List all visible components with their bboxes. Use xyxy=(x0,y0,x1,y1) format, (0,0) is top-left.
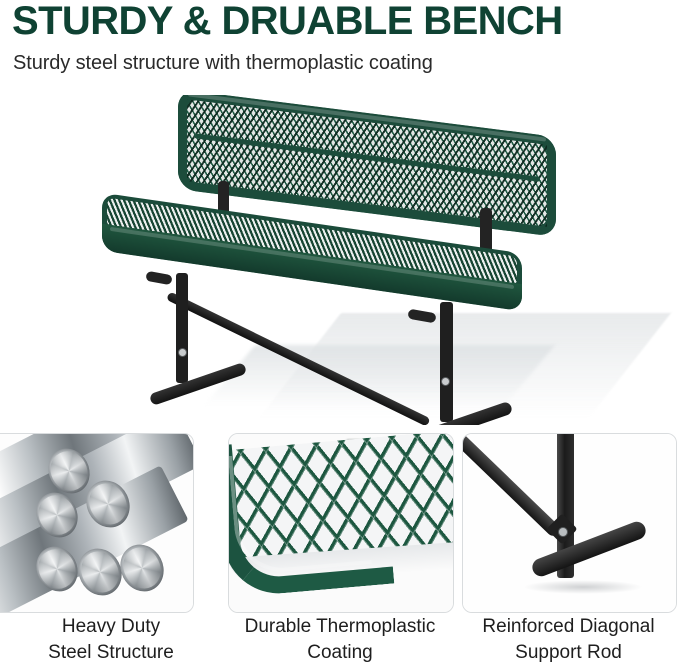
bench-leg-left xyxy=(176,273,188,383)
leg-shadow xyxy=(523,580,643,594)
support-rod-bolt-left xyxy=(178,348,187,357)
product-feature-banner: STURDY & DRUABLE BENCH Sturdy steel stru… xyxy=(0,0,679,670)
caption-line-2: Coating xyxy=(228,640,452,666)
caption-line-1: Reinforced Diagonal xyxy=(458,614,679,640)
feature-captions: Heavy Duty Steel Structure Durable Therm… xyxy=(0,614,679,670)
caption-line-1: Durable Thermoplastic xyxy=(228,614,452,640)
caption-line-1: Heavy Duty xyxy=(0,614,222,640)
thermoplastic-mesh-image xyxy=(229,434,453,612)
bench-illustration xyxy=(0,95,679,425)
support-rod-bolt-right xyxy=(441,377,450,386)
feature-panels xyxy=(0,433,679,613)
support-rod-image xyxy=(463,434,676,612)
rod-bolt-icon xyxy=(558,527,568,537)
bench-leg-right xyxy=(440,302,453,422)
steel-rods-image xyxy=(0,434,193,612)
caption-line-2: Steel Structure xyxy=(0,640,222,666)
caption-steel-structure: Heavy Duty Steel Structure xyxy=(0,614,222,666)
seat-support-nub-left xyxy=(145,271,172,285)
feature-panel-steel-structure xyxy=(0,433,194,613)
page-title: STURDY & DRUABLE BENCH xyxy=(12,0,563,44)
mesh-rim-highlight xyxy=(228,444,372,575)
feature-panel-thermoplastic-coating xyxy=(228,433,454,613)
feature-panel-support-rod xyxy=(462,433,677,613)
caption-line-2: Support Rod xyxy=(458,640,679,666)
page-subtitle: Sturdy steel structure with thermoplasti… xyxy=(13,52,433,75)
caption-thermoplastic-coating: Durable Thermoplastic Coating xyxy=(228,614,452,666)
hero-image-bench xyxy=(0,95,679,425)
caption-support-rod: Reinforced Diagonal Support Rod xyxy=(458,614,679,666)
diagonal-rod xyxy=(462,433,562,538)
